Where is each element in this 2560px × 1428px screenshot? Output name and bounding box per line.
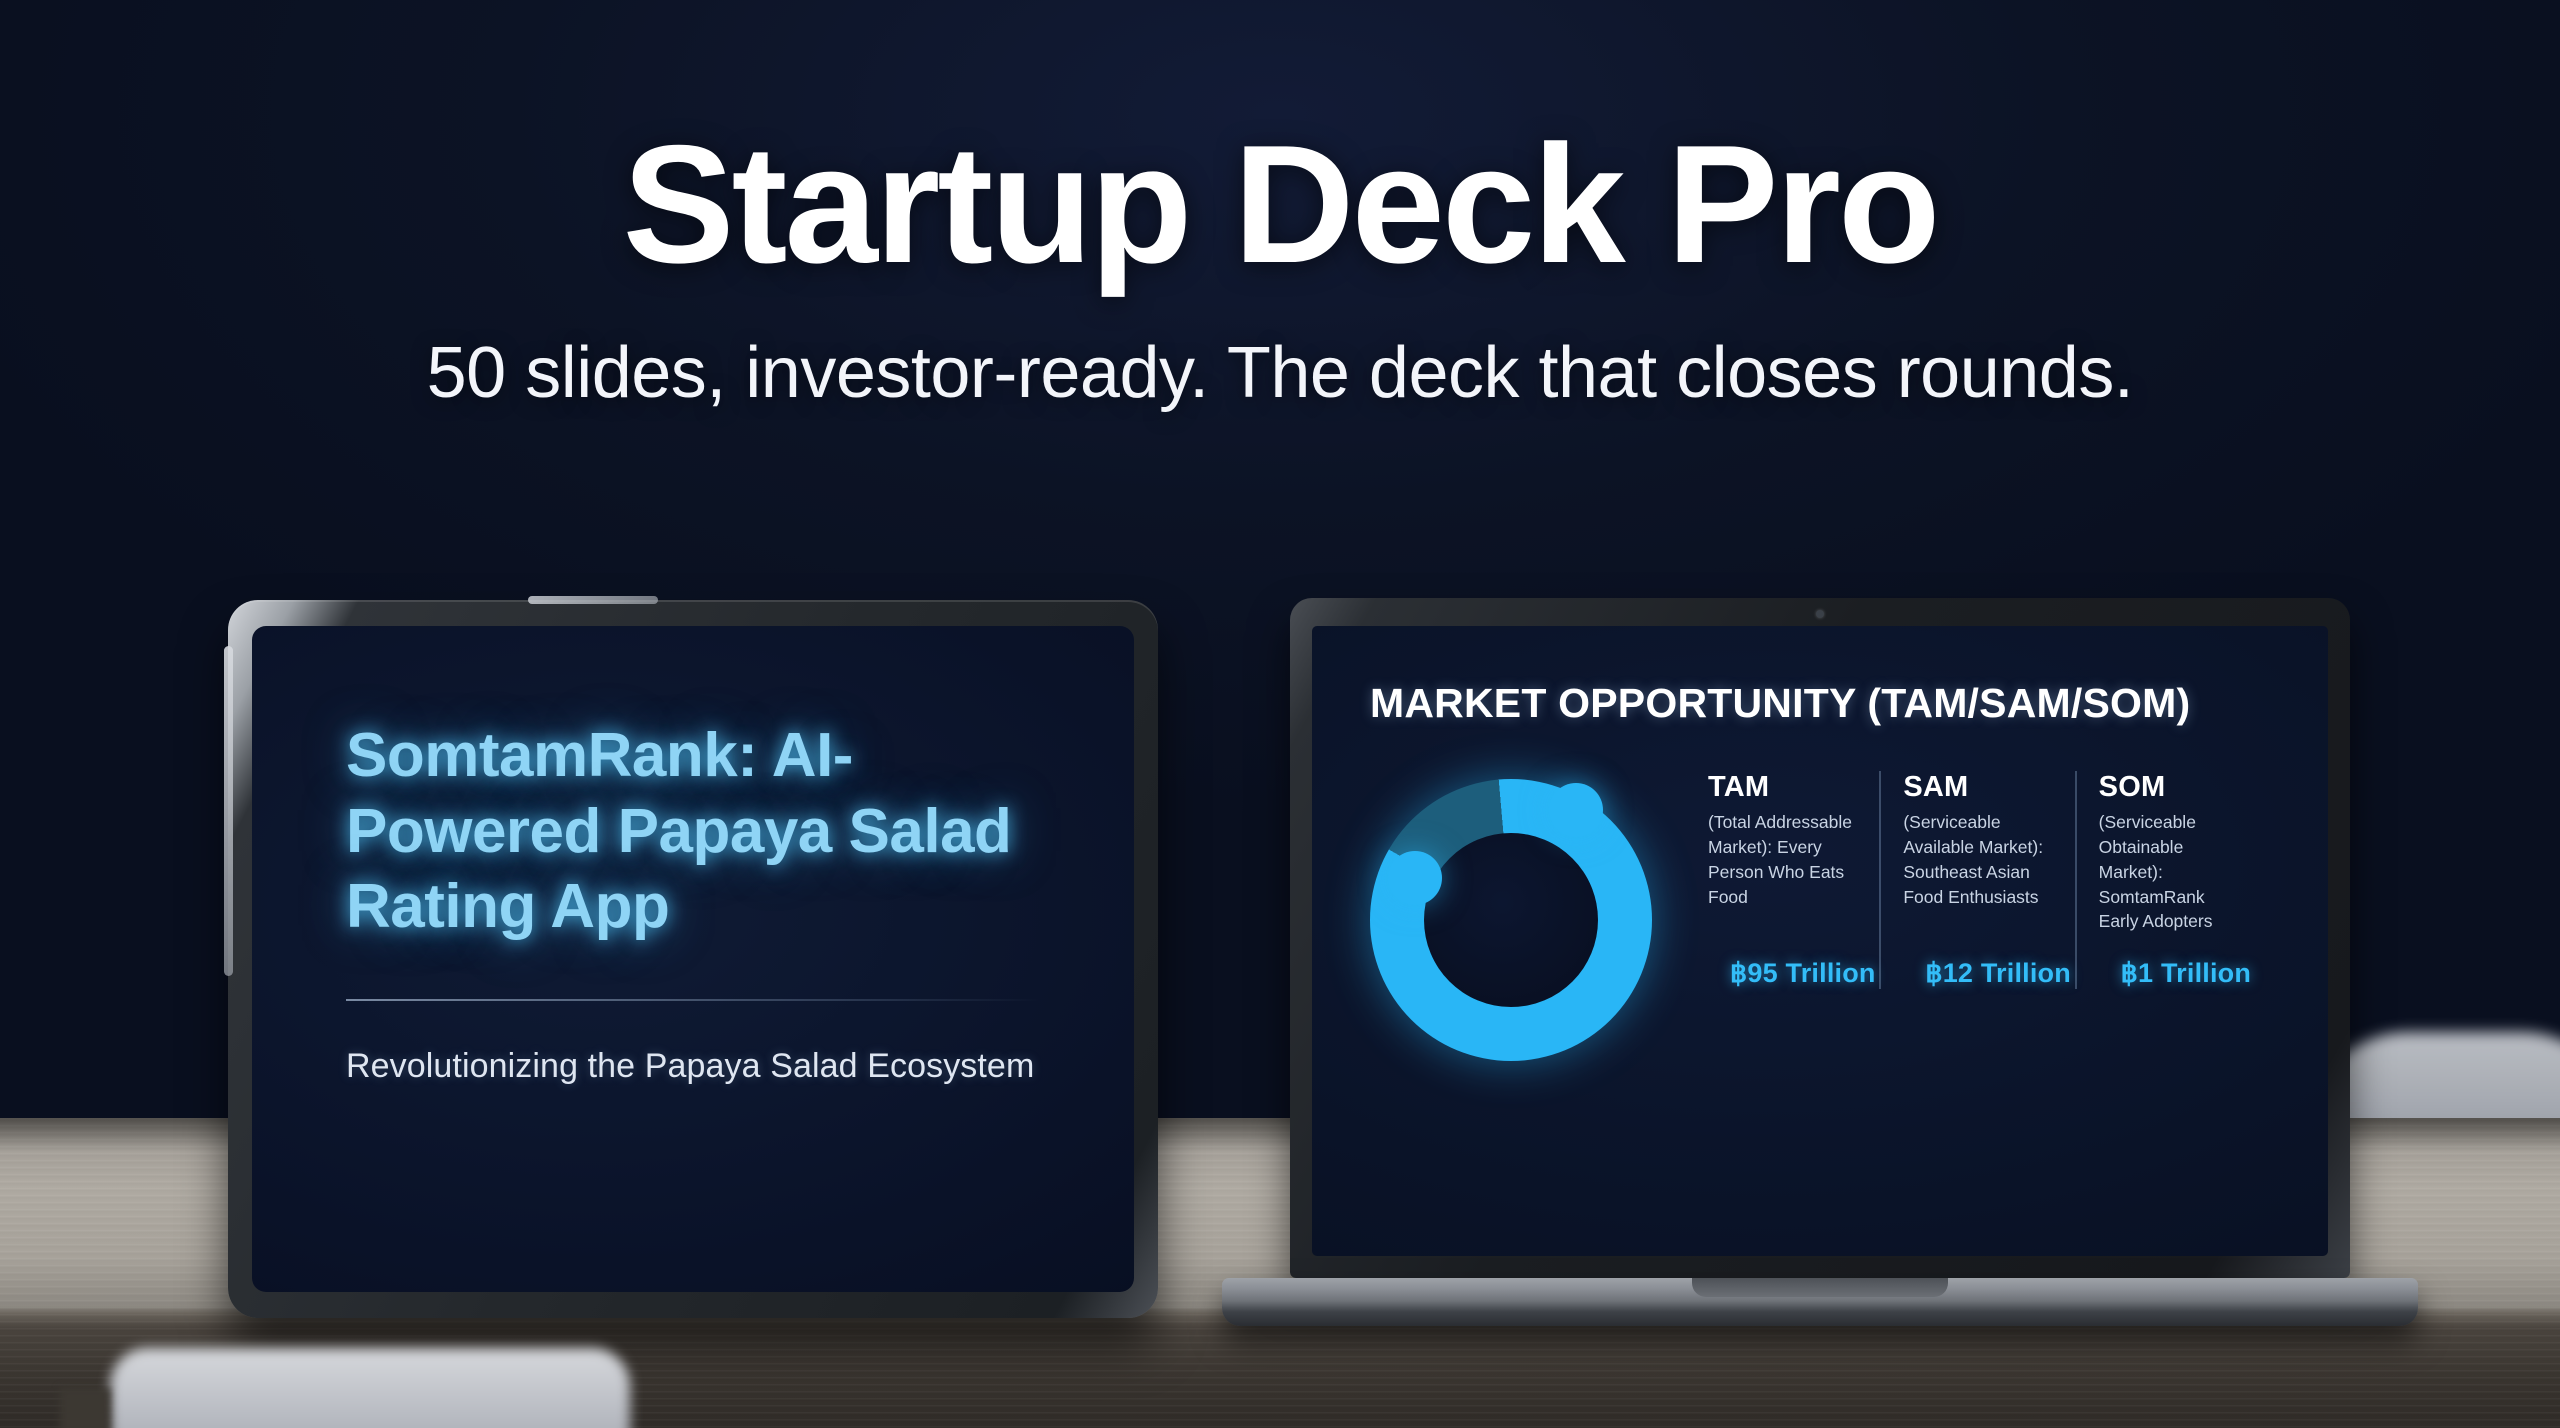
column-som-description: (Serviceable Obtainable Market): SomtamR… (2099, 810, 2248, 934)
tam-sam-som-columns: TAM (Total Addressable Market): Every Pe… (1686, 771, 2270, 989)
tablet-side-edge (224, 646, 233, 976)
tablet-power-button[interactable] (528, 596, 658, 604)
column-sam-value: ฿12 Trillion (1925, 958, 2071, 989)
donut-cap-start (1549, 783, 1603, 837)
column-tam: TAM (Total Addressable Market): Every Pe… (1686, 771, 1879, 989)
blurred-foreground-prop (110, 1348, 630, 1428)
blurred-foreground-accent (60, 1388, 110, 1428)
page-subtitle: 50 slides, investor-ready. The deck that… (0, 334, 2560, 413)
laptop-lid: MARKET OPPORTUNITY (TAM/SAM/SOM) (1290, 598, 2350, 1278)
column-som-label: SOM (2099, 771, 2248, 804)
tablet-slide-divider (346, 999, 1040, 1001)
market-opportunity-slide: MARKET OPPORTUNITY (TAM/SAM/SOM) (1312, 626, 2328, 1256)
tablet-device: SomtamRank: AI-Powered Papaya Salad Rati… (228, 600, 1158, 1318)
tablet-slide: SomtamRank: AI-Powered Papaya Salad Rati… (252, 626, 1134, 1086)
laptop-device: MARKET OPPORTUNITY (TAM/SAM/SOM) (1290, 598, 2350, 1338)
promo-scene: Startup Deck Pro 50 slides, investor-rea… (0, 0, 2560, 1428)
tablet-slide-title: SomtamRank: AI-Powered Papaya Salad Rati… (346, 718, 1040, 945)
column-sam: SAM (Serviceable Available Market): Sout… (1879, 771, 2074, 989)
laptop-screen: MARKET OPPORTUNITY (TAM/SAM/SOM) (1312, 626, 2328, 1256)
column-sam-label: SAM (1903, 771, 2052, 804)
webcam-icon (1816, 610, 1824, 618)
slide-title: MARKET OPPORTUNITY (TAM/SAM/SOM) (1370, 680, 2270, 727)
column-tam-label: TAM (1708, 771, 1857, 804)
column-sam-description: (Serviceable Available Market): Southeas… (1903, 810, 2052, 909)
tablet-slide-subtitle: Revolutionizing the Papaya Salad Ecosyst… (346, 1047, 1040, 1086)
tablet-screen: SomtamRank: AI-Powered Papaya Salad Rati… (252, 626, 1134, 1292)
column-tam-value: ฿95 Trillion (1730, 958, 1876, 989)
slide-body: TAM (Total Addressable Market): Every Pe… (1370, 771, 2270, 1061)
market-donut-chart (1370, 779, 1652, 1061)
hero-section: Startup Deck Pro 50 slides, investor-rea… (0, 120, 2560, 413)
column-som: SOM (Serviceable Obtainable Market): Som… (2075, 771, 2270, 989)
donut-cap-end (1388, 851, 1442, 905)
donut-center-hole (1424, 833, 1598, 1007)
column-tam-description: (Total Addressable Market): Every Person… (1708, 810, 1857, 909)
laptop-hinge-notch (1692, 1278, 1948, 1297)
column-som-value: ฿1 Trillion (2121, 958, 2251, 989)
page-title: Startup Deck Pro (0, 120, 2560, 288)
